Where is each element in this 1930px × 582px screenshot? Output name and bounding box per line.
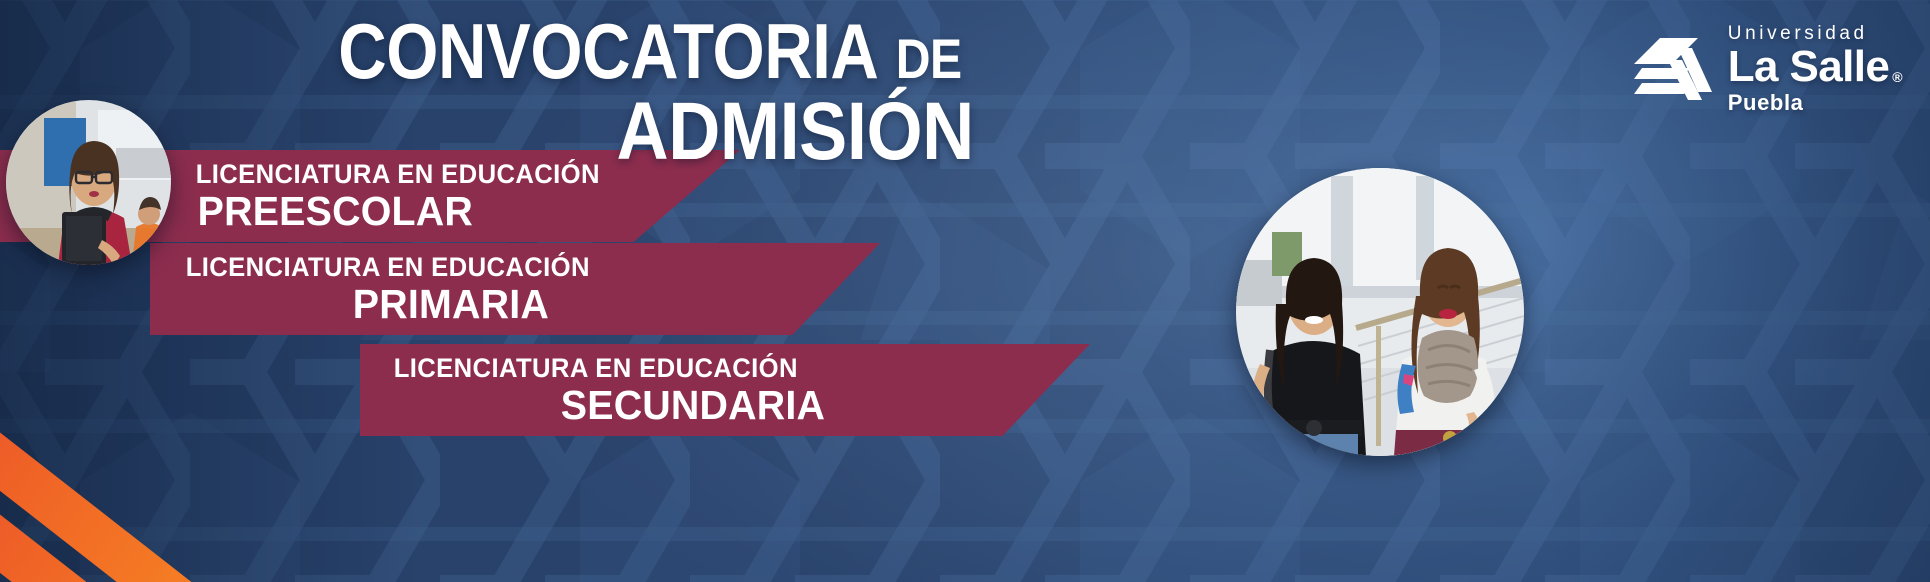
program-name-secundaria: SECUNDARIA (388, 384, 1062, 427)
stripe-1 (0, 303, 275, 582)
stripe-2 (0, 385, 275, 582)
logo-la-salle-text: La Salle (1728, 45, 1890, 89)
universidad-la-salle-logo: Universidad La Salle ® Puebla (1634, 24, 1902, 114)
headline-admision: ADMISIÓN (78, 94, 1222, 169)
logo-puebla: Puebla (1728, 92, 1902, 114)
program-banner-primaria[interactable]: LICENCIATURA EN EDUCACIÓN PRIMARIA (150, 243, 880, 335)
student-photo-left (6, 100, 171, 265)
program-eyebrow-secundaria: LICENCIATURA EN EDUCACIÓN (388, 353, 1055, 384)
headline: CONVOCATORIA DE ADMISIÓN (0, 16, 1300, 169)
la-salle-emblem-icon (1634, 34, 1712, 104)
program-name-primaria: PRIMARIA (180, 283, 852, 326)
registered-trademark-icon: ® (1892, 70, 1902, 84)
headline-convocatoria: CONVOCATORIA (338, 7, 878, 95)
admission-banner: CONVOCATORIA DE ADMISIÓN LICENCIATURA EN… (0, 0, 1930, 582)
program-eyebrow-primaria: LICENCIATURA EN EDUCACIÓN (180, 252, 845, 283)
program-banner-secundaria[interactable]: LICENCIATURA EN EDUCACIÓN SECUNDARIA (360, 344, 1090, 436)
logo-la-salle: La Salle ® (1728, 45, 1902, 89)
logo-universidad: Universidad (1728, 24, 1902, 43)
stripe-3 (0, 467, 275, 582)
headline-line-1: CONVOCATORIA DE (91, 16, 1209, 88)
program-name-preescolar: PREESCOLAR (190, 190, 718, 233)
headline-de: DE (896, 27, 962, 90)
logo-wordmark: Universidad La Salle ® Puebla (1728, 24, 1902, 114)
student-photo-right (1236, 168, 1524, 456)
